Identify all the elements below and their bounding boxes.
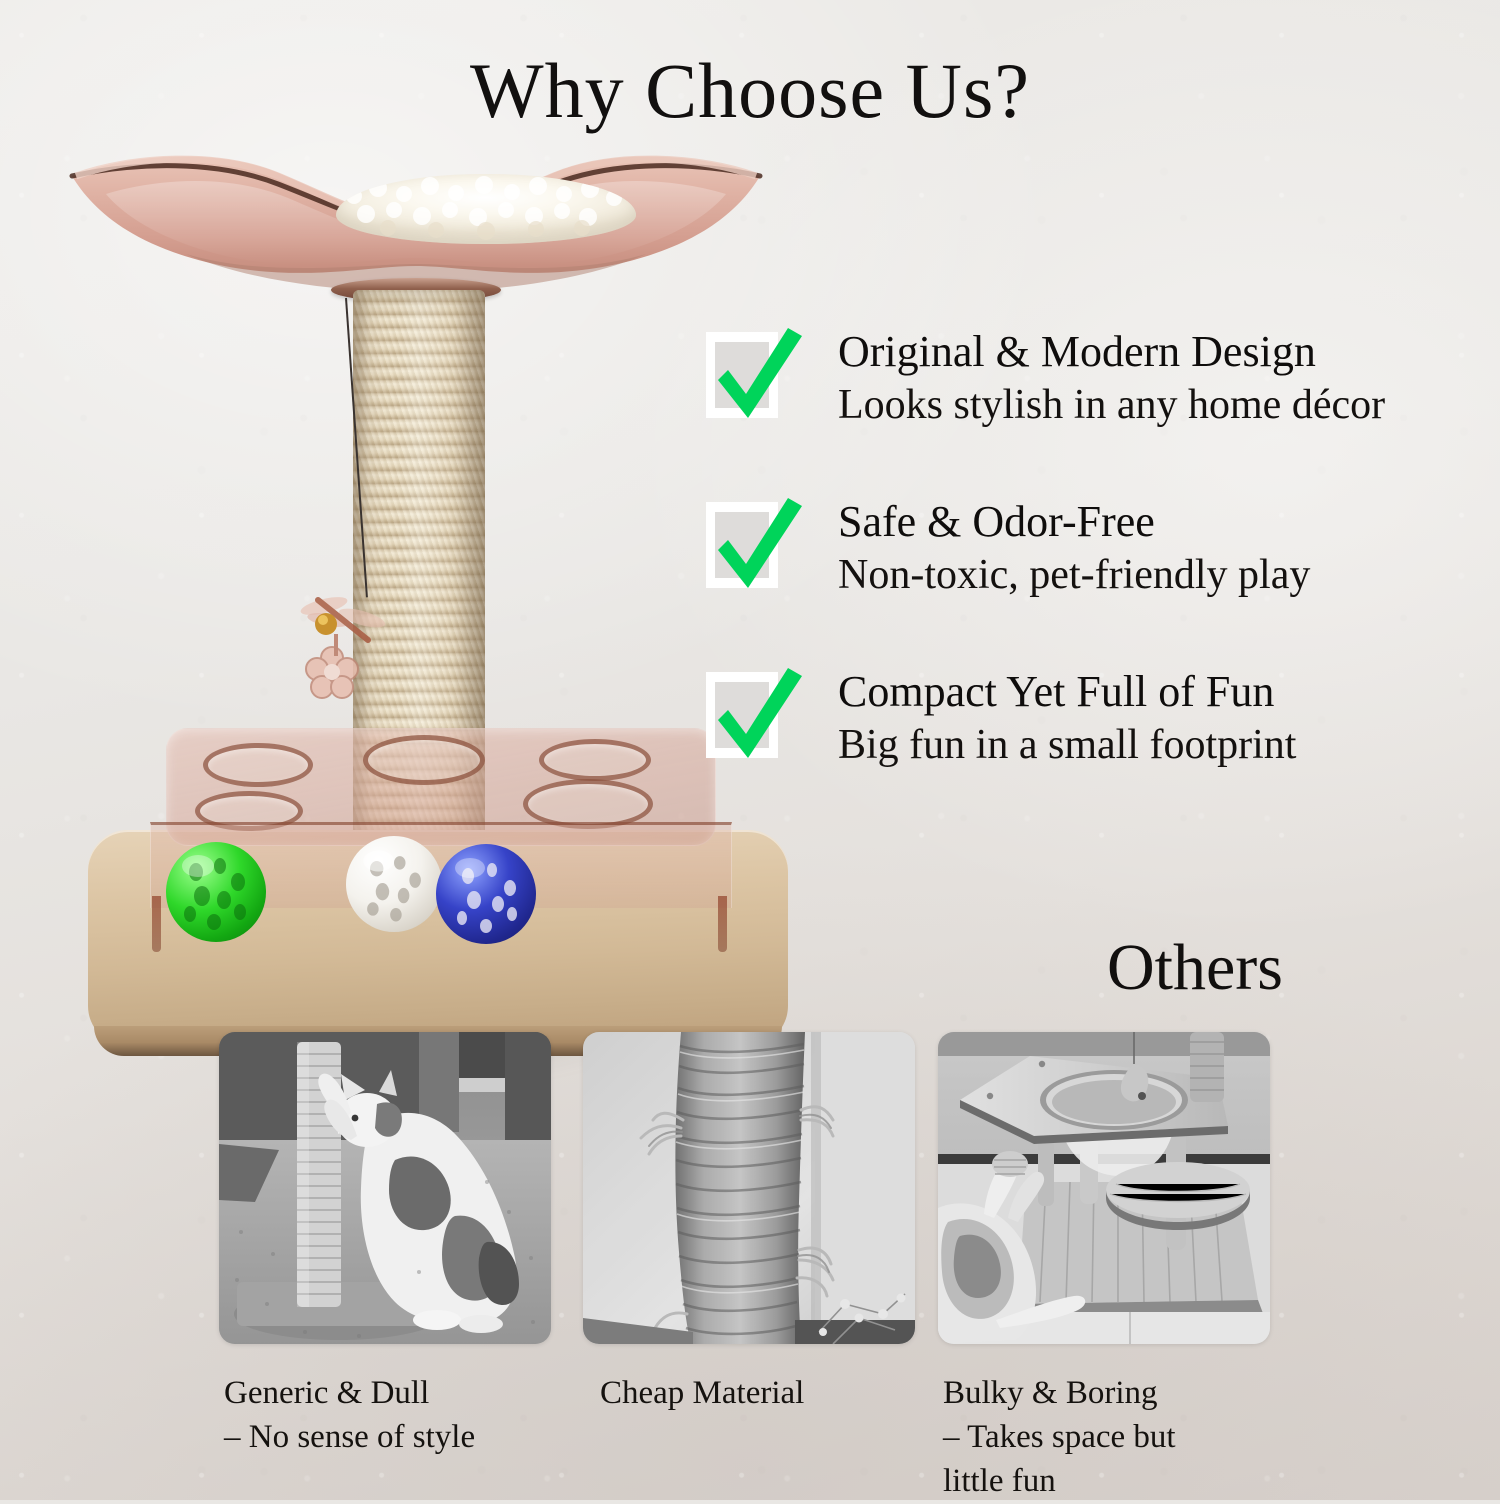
- benefits-list: Original & Modern Design Looks stylish i…: [706, 326, 1496, 836]
- toy-ball-white: [346, 836, 442, 932]
- tray-hole: [203, 743, 313, 787]
- caption-line-1: Cheap Material: [600, 1372, 920, 1416]
- hanging-dragonfly-toy: [296, 582, 392, 722]
- tray-leg: [152, 896, 161, 952]
- benefit-heading: Original & Modern Design: [838, 326, 1496, 377]
- toy-ball-blue: [436, 844, 536, 944]
- others-photo-card: [219, 1032, 551, 1344]
- others-photo-card: [583, 1032, 915, 1344]
- caption-line-3: little fun: [943, 1460, 1283, 1504]
- benefit-item: Safe & Odor-Free Non-toxic, pet-friendly…: [706, 496, 1496, 614]
- bulky-multi-level-cat-tree-photo: [938, 1032, 1270, 1344]
- others-caption: Cheap Material: [600, 1372, 920, 1416]
- cat-scratching-plain-post-photo: [219, 1032, 551, 1344]
- product-hero-photo: [48, 130, 788, 1030]
- green-check-icon: [706, 672, 778, 758]
- page-title: Why Choose Us?: [0, 46, 1500, 136]
- caption-line-2: – No sense of style: [224, 1416, 564, 1460]
- tray-leg: [718, 896, 727, 952]
- benefit-item: Original & Modern Design Looks stylish i…: [706, 326, 1496, 444]
- others-caption: Generic & Dull – No sense of style: [224, 1372, 564, 1460]
- benefit-subtext: Non-toxic, pet-friendly play: [838, 550, 1496, 601]
- toy-ball-green: [166, 842, 266, 942]
- benefit-item: Compact Yet Full of Fun Big fun in a sma…: [706, 666, 1496, 784]
- caption-line-2: – Takes space but: [943, 1416, 1283, 1460]
- benefit-subtext: Big fun in a small footprint: [838, 720, 1496, 771]
- tray-hole: [539, 739, 651, 781]
- benefit-subtext: Looks stylish in any home décor: [838, 380, 1496, 431]
- frayed-sisal-rope-closeup-photo: [583, 1032, 915, 1344]
- caption-line-1: Generic & Dull: [224, 1372, 564, 1416]
- benefit-heading: Compact Yet Full of Fun: [838, 666, 1496, 717]
- benefit-heading: Safe & Odor-Free: [838, 496, 1496, 547]
- green-check-icon: [706, 332, 778, 418]
- caption-line-1: Bulky & Boring: [943, 1372, 1283, 1416]
- tray-hole: [363, 735, 485, 785]
- others-photo-card: [938, 1032, 1270, 1344]
- others-heading: Others: [1020, 930, 1370, 1006]
- others-caption: Bulky & Boring – Takes space but little …: [943, 1372, 1283, 1504]
- green-check-icon: [706, 502, 778, 588]
